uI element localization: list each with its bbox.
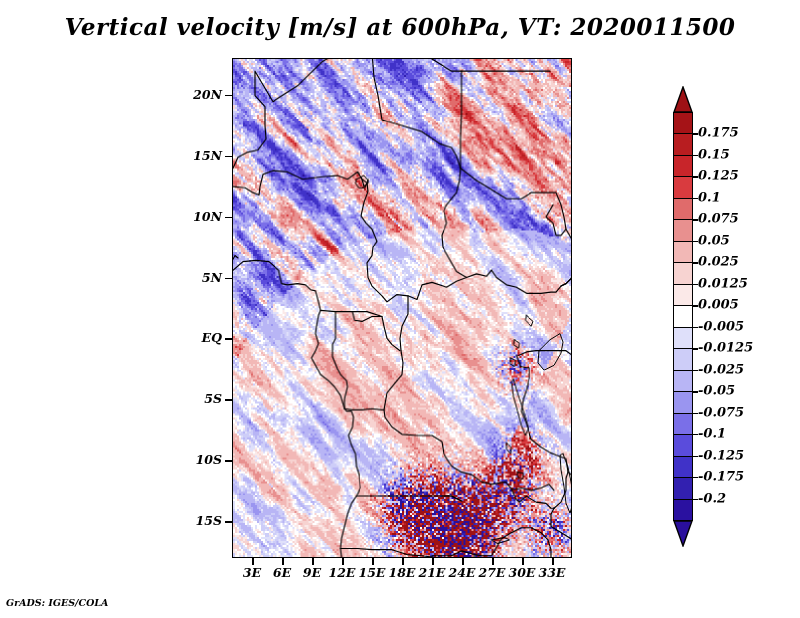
- lon-tick-label: 33E: [536, 565, 568, 580]
- grads-attribution: GrADS: IGES/COLA: [6, 598, 108, 609]
- colorbar-over-arrow: [673, 86, 693, 112]
- colorbar: [673, 86, 693, 546]
- colorbar-segment: [673, 413, 693, 436]
- colorbar-segment: [673, 327, 693, 350]
- colorbar-segment: [673, 434, 693, 457]
- colorbar-tick-mark: [693, 176, 698, 177]
- lon-tick-label: 6E: [266, 565, 298, 580]
- colorbar-segment: [673, 262, 693, 285]
- lat-tick-label: 5S: [170, 391, 222, 406]
- lon-tick-mark: [342, 558, 344, 565]
- colorbar-segment: [673, 241, 693, 264]
- lon-tick-label: 18E: [386, 565, 418, 580]
- lon-tick-mark: [462, 558, 464, 565]
- colorbar-tick-mark: [693, 219, 698, 220]
- colorbar-tick-mark: [693, 155, 698, 156]
- lat-tick-mark: [225, 95, 232, 97]
- lat-tick-label: 5N: [170, 270, 222, 285]
- colorbar-tick-mark: [693, 434, 698, 435]
- page-title: Vertical velocity [m/s] at 600hPa, VT: 2…: [0, 14, 800, 41]
- colorbar-tick-label: 0.1: [698, 190, 721, 205]
- lon-tick-mark: [282, 558, 284, 565]
- colorbar-tick-label: -0.005: [698, 319, 744, 334]
- lat-tick-label: 10S: [170, 452, 222, 467]
- map-plot-area: [232, 58, 572, 558]
- lon-tick-label: 15E: [356, 565, 388, 580]
- colorbar-tick-label: -0.2: [698, 491, 726, 506]
- colorbar-segment: [673, 499, 693, 522]
- colorbar-tick-mark: [693, 348, 698, 349]
- lon-tick-mark: [552, 558, 554, 565]
- lon-tick-mark: [252, 558, 254, 565]
- colorbar-tick-label: 0.075: [698, 212, 739, 227]
- lon-tick-label: 3E: [236, 565, 268, 580]
- coastline-overlay: [233, 59, 571, 557]
- lat-tick-label: 15N: [170, 148, 222, 163]
- colorbar-tick-mark: [693, 262, 698, 263]
- colorbar-segment: [673, 284, 693, 307]
- lat-tick-mark: [225, 217, 232, 219]
- colorbar-tick-mark: [693, 305, 698, 306]
- colorbar-tick-mark: [693, 477, 698, 478]
- lat-tick-mark: [225, 521, 232, 523]
- lon-tick-mark: [432, 558, 434, 565]
- colorbar-tick-label: -0.025: [698, 362, 744, 377]
- colorbar-tick-label: -0.0125: [698, 341, 753, 356]
- colorbar-tick-mark: [693, 327, 698, 328]
- colorbar-tick-label: -0.1: [698, 427, 726, 442]
- lon-tick-label: 21E: [416, 565, 448, 580]
- colorbar-tick-mark: [693, 198, 698, 199]
- colorbar-segment: [673, 305, 693, 328]
- colorbar-segment: [673, 133, 693, 156]
- colorbar-tick-label: 0.0125: [698, 276, 748, 291]
- colorbar-tick-label: 0.005: [698, 298, 739, 313]
- colorbar-under-arrow: [673, 520, 693, 546]
- colorbar-tick-mark: [693, 456, 698, 457]
- colorbar-segment: [673, 112, 693, 135]
- colorbar-tick-label: -0.075: [698, 405, 744, 420]
- lon-tick-mark: [522, 558, 524, 565]
- colorbar-segment: [673, 370, 693, 393]
- colorbar-segment: [673, 348, 693, 371]
- lon-tick-label: 12E: [326, 565, 358, 580]
- lat-tick-label: EQ: [170, 330, 222, 345]
- colorbar-tick-label: 0.025: [698, 255, 739, 270]
- colorbar-tick-mark: [693, 391, 698, 392]
- colorbar-tick-label: 0.05: [698, 233, 730, 248]
- colorbar-tick-label: -0.05: [698, 384, 735, 399]
- lat-tick-mark: [225, 278, 232, 280]
- colorbar-segment: [673, 391, 693, 414]
- colorbar-tick-label: -0.175: [698, 470, 744, 485]
- colorbar-segment: [673, 456, 693, 479]
- lat-tick-mark: [225, 156, 232, 158]
- lat-tick-label: 20N: [170, 87, 222, 102]
- lon-tick-mark: [372, 558, 374, 565]
- lon-tick-label: 24E: [446, 565, 478, 580]
- colorbar-tick-mark: [693, 499, 698, 500]
- lat-tick-label: 15S: [170, 513, 222, 528]
- lat-tick-label: 10N: [170, 209, 222, 224]
- colorbar-tick-mark: [693, 370, 698, 371]
- lon-tick-mark: [312, 558, 314, 565]
- lat-tick-mark: [225, 338, 232, 340]
- lon-tick-mark: [492, 558, 494, 565]
- colorbar-tick-mark: [693, 241, 698, 242]
- colorbar-tick-label: 0.15: [698, 147, 730, 162]
- colorbar-tick-label: 0.125: [698, 169, 739, 184]
- colorbar-segment: [673, 477, 693, 500]
- colorbar-segment: [673, 176, 693, 199]
- lon-tick-label: 9E: [296, 565, 328, 580]
- colorbar-segment: [673, 219, 693, 242]
- lat-tick-mark: [225, 399, 232, 401]
- lon-tick-mark: [402, 558, 404, 565]
- colorbar-tick-mark: [693, 413, 698, 414]
- colorbar-tick-mark: [693, 133, 698, 134]
- lon-tick-label: 27E: [476, 565, 508, 580]
- colorbar-segment: [673, 155, 693, 178]
- lat-tick-mark: [225, 460, 232, 462]
- colorbar-tick-label: 0.175: [698, 126, 739, 141]
- colorbar-tick-mark: [693, 284, 698, 285]
- colorbar-segment: [673, 198, 693, 221]
- colorbar-tick-label: -0.125: [698, 448, 744, 463]
- lon-tick-label: 30E: [506, 565, 538, 580]
